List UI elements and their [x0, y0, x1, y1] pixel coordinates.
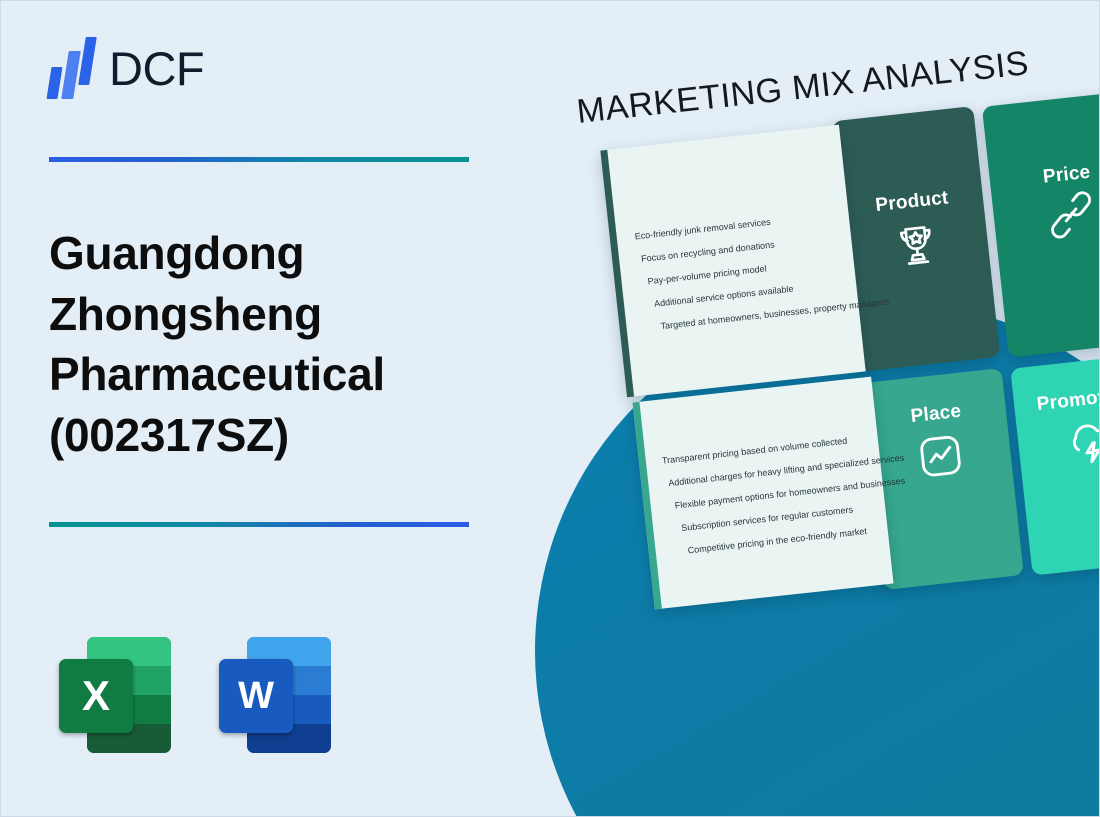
list-item: Pay-per-volume pricing model — [647, 263, 767, 287]
dcf-bars-icon — [49, 37, 95, 99]
brand-name: DCF — [109, 45, 204, 92]
excel-document-icon[interactable]: X — [59, 637, 171, 753]
word-letter: W — [219, 659, 293, 733]
left-column: DCF Guangdong Zhongsheng Pharmaceutical … — [1, 1, 521, 817]
excel-letter: X — [59, 659, 133, 733]
list-item: Eco-friendly junk removal services — [634, 217, 771, 242]
price-text-panel: Transparent pricing based on volume coll… — [632, 377, 893, 610]
document-formats: X W — [59, 637, 331, 753]
slide-canvas: DCF Guangdong Zhongsheng Pharmaceutical … — [0, 0, 1100, 817]
product-bullet-list: Eco-friendly junk removal services Focus… — [607, 125, 839, 150]
word-document-icon[interactable]: W — [219, 637, 331, 753]
list-item: Competitive pricing in the eco-friendly … — [687, 526, 867, 556]
mix-layout: MARKETING MIX ANALYSIS Product — [521, 1, 1100, 817]
list-item: Focus on recycling and donations — [641, 239, 775, 264]
page-title: Guangdong Zhongsheng Pharmaceutical (002… — [49, 223, 489, 466]
quadrant-promotion[interactable]: Promotion — [1010, 350, 1100, 575]
divider-top — [49, 157, 469, 162]
product-text-panel: Eco-friendly junk removal services Focus… — [600, 125, 865, 397]
quadrant-price[interactable]: Price — [982, 89, 1100, 358]
divider-bottom — [49, 522, 469, 527]
graphic-heading: MARKETING MIX ANALYSIS — [575, 42, 1046, 132]
list-item: Additional service options available — [654, 284, 794, 310]
marketing-mix-graphic: MARKETING MIX ANALYSIS Product — [521, 1, 1100, 817]
brand-logo: DCF — [49, 37, 204, 99]
trophy-icon — [843, 211, 990, 276]
